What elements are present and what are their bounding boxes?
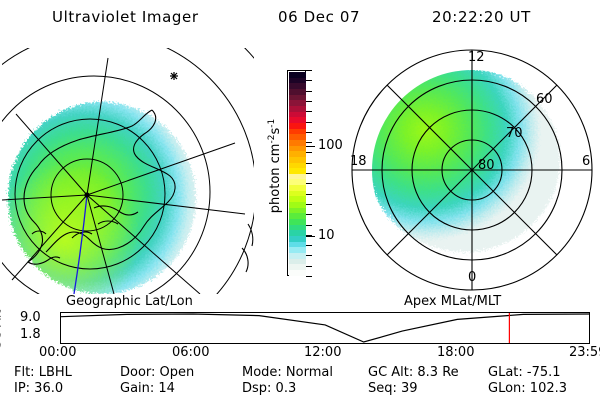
colorbar-tick-label-10: 10 bbox=[318, 228, 335, 243]
mlt-spokes bbox=[352, 50, 592, 290]
pole-marker bbox=[84, 192, 89, 197]
colorbar-minor-tick bbox=[306, 276, 312, 277]
mlt-label-6: 6 bbox=[582, 154, 590, 169]
uv-imager-window: Ultraviolet Imager 06 Dec 07 20:22:20 UT bbox=[0, 0, 600, 400]
colorbar-minor-tick bbox=[306, 204, 312, 205]
colorbar-gradient bbox=[289, 72, 306, 276]
mlt-polar-panel[interactable]: 12 6 0 18 60 70 80 bbox=[350, 48, 598, 294]
colorbar-minor-tick bbox=[306, 163, 312, 164]
colorbar-major-tick bbox=[306, 146, 315, 147]
colorbar-minor-tick bbox=[306, 132, 312, 133]
colorbar-minor-tick bbox=[306, 255, 312, 256]
colorbar-minor-tick bbox=[306, 214, 312, 215]
altitude-timeseries-plot[interactable] bbox=[60, 312, 590, 344]
status-dsp: Dsp: 0.3 bbox=[242, 381, 296, 396]
colorbar-minor-tick bbox=[306, 80, 312, 81]
mlat-ring-label-80: 80 bbox=[478, 158, 495, 173]
status-glon: GLon: 102.3 bbox=[488, 381, 567, 396]
status-glat: GLat: -75.1 bbox=[488, 365, 561, 380]
time-tick-1200: 12:00 bbox=[304, 345, 341, 360]
colorbar-minor-tick bbox=[306, 183, 312, 184]
colorbar-minor-tick bbox=[306, 152, 312, 153]
status-door: Door: Open bbox=[120, 365, 194, 380]
page-title: Ultraviolet Imager bbox=[52, 8, 199, 26]
mlt-label-0: 0 bbox=[468, 270, 476, 285]
colorbar-tick-label-100: 100 bbox=[318, 138, 343, 153]
geographic-image-panel[interactable] bbox=[2, 48, 254, 294]
altitude-max-label: 9.0 bbox=[20, 310, 41, 325]
time-tick-1800: 18:00 bbox=[437, 345, 474, 360]
observation-time: 20:22:20 UT bbox=[432, 8, 531, 26]
mlt-panel-caption: Apex MLat/MLT bbox=[404, 294, 501, 309]
geographic-panel-caption: Geographic Lat/Lon bbox=[66, 294, 193, 309]
mlat-ring-label-70: 70 bbox=[506, 126, 523, 141]
time-tick-0000: 00:00 bbox=[39, 345, 76, 360]
mlat-ring-label-60: 60 bbox=[536, 92, 553, 107]
altitude-min-label: 1.8 bbox=[20, 327, 41, 342]
colorbar-minor-tick bbox=[306, 245, 312, 246]
star-marker bbox=[170, 72, 178, 80]
colorbar[interactable]: photon cm-2s-1 bbox=[287, 70, 306, 276]
status-seq: Seq: 39 bbox=[368, 381, 418, 396]
mlt-label-18: 18 bbox=[350, 154, 367, 169]
status-flt: Flt: LBHL bbox=[14, 365, 72, 380]
colorbar-frame bbox=[287, 70, 306, 276]
colorbar-axis-label: photon cm-2s-1 bbox=[267, 119, 283, 213]
colorbar-minor-tick bbox=[306, 70, 312, 71]
colorbar-minor-tick bbox=[306, 266, 312, 267]
colorbar-minor-tick bbox=[306, 122, 312, 123]
colorbar-minor-tick bbox=[306, 194, 312, 195]
status-gc-alt: GC Alt: 8.3 Re bbox=[368, 365, 459, 380]
colorbar-minor-tick bbox=[306, 225, 312, 226]
altitude-axis-label: GC Alt bbox=[0, 310, 5, 351]
observation-date: 06 Dec 07 bbox=[278, 8, 360, 26]
mlt-label-12: 12 bbox=[468, 50, 485, 65]
colorbar-major-tick bbox=[306, 236, 315, 237]
status-gain: Gain: 14 bbox=[120, 381, 175, 396]
status-ip: IP: 36.0 bbox=[14, 381, 63, 396]
time-tick-0600: 06:00 bbox=[172, 345, 209, 360]
colorbar-minor-tick bbox=[306, 101, 312, 102]
colorbar-band bbox=[289, 270, 306, 276]
colorbar-minor-tick bbox=[306, 111, 312, 112]
colorbar-minor-tick bbox=[306, 173, 312, 174]
colorbar-minor-tick bbox=[306, 91, 312, 92]
time-tick-2359: 23:59 bbox=[569, 345, 600, 360]
colorbar-minor-tick bbox=[306, 142, 312, 143]
status-mode: Mode: Normal bbox=[242, 365, 333, 380]
